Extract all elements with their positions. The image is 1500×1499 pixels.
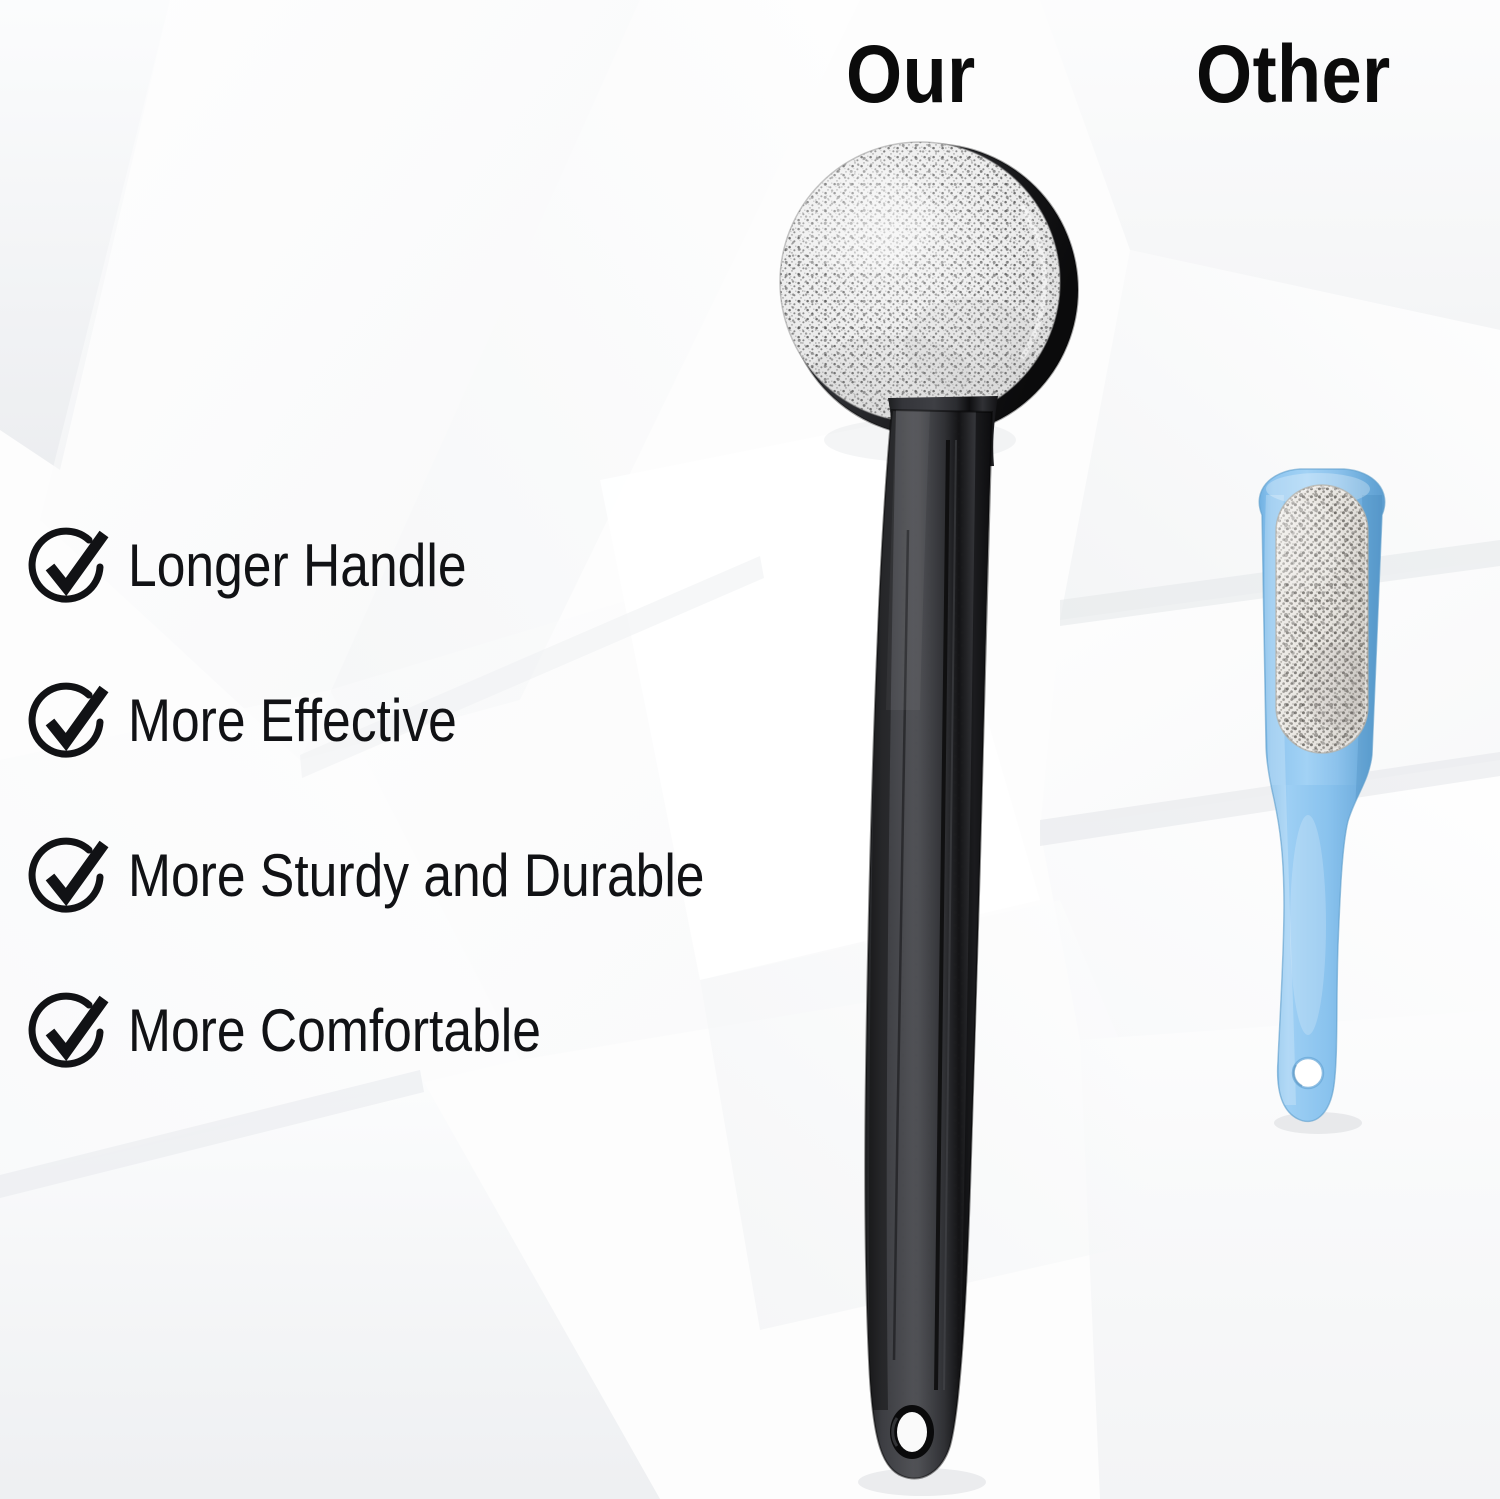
feature-item: More Effective <box>28 682 848 837</box>
feature-item: More Comfortable <box>28 992 848 1147</box>
feature-label: More Effective <box>128 680 457 762</box>
product-comparison-image: Our Other Longer Handle More Effective <box>0 0 1500 1499</box>
our-product-image <box>770 110 1130 1499</box>
feature-label: More Comfortable <box>128 990 541 1072</box>
heading-other: Other <box>1196 34 1391 116</box>
check-circle-icon <box>28 837 110 919</box>
feature-item: Longer Handle <box>28 527 848 682</box>
check-circle-icon <box>28 992 110 1074</box>
feature-label: More Sturdy and Durable <box>128 835 704 917</box>
feature-item: More Sturdy and Durable <box>28 837 848 992</box>
feature-label: Longer Handle <box>128 525 467 607</box>
other-product-image <box>1222 455 1422 1155</box>
feature-list: Longer Handle More Effective More Sturdy… <box>28 527 848 1147</box>
check-circle-icon <box>28 527 110 609</box>
check-circle-icon <box>28 682 110 764</box>
heading-our: Our <box>846 34 976 116</box>
